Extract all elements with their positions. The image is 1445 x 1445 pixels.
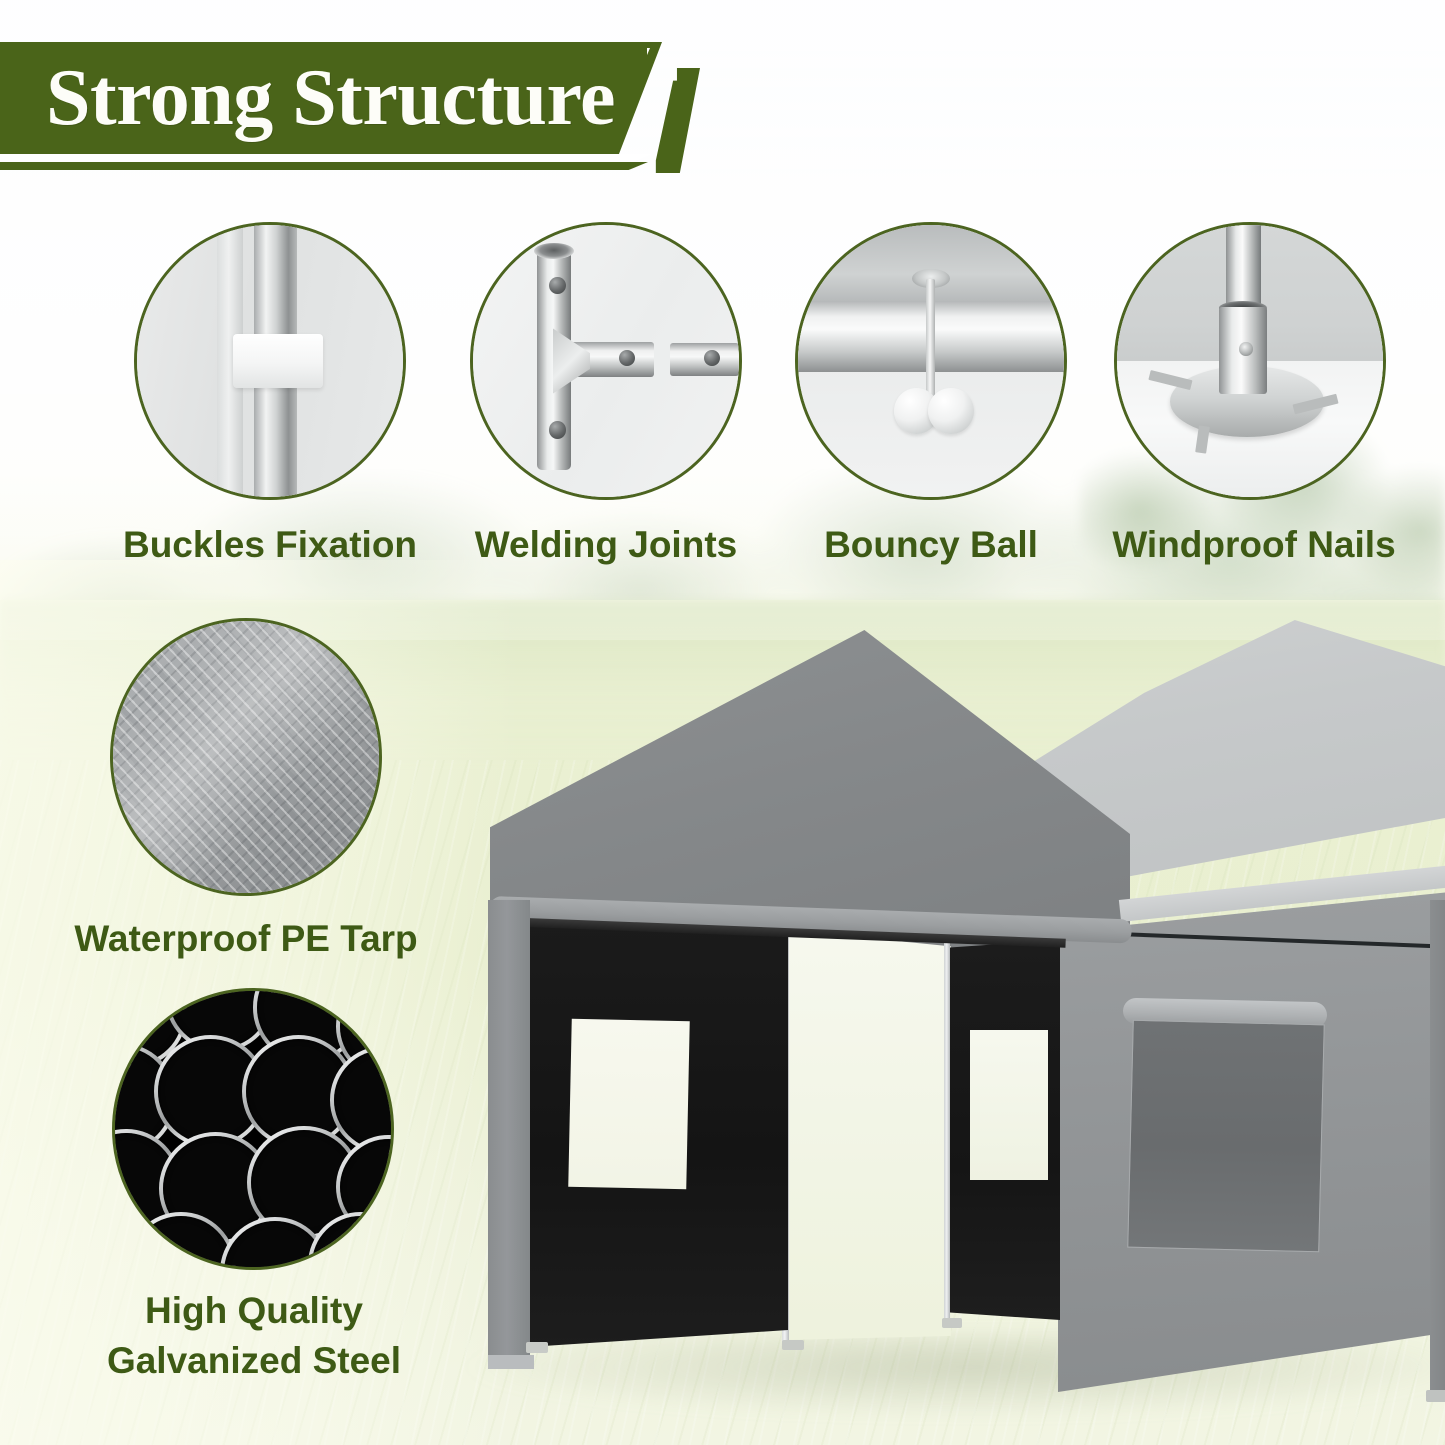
page-title: Strong Structure <box>46 56 615 140</box>
rear-corner-post <box>1430 900 1445 1400</box>
t-pipe-weld-joint-icon <box>470 222 742 500</box>
rear-panel-window <box>970 1030 1048 1180</box>
center-support-pole-right <box>944 936 950 1326</box>
front-corner-post-foot <box>488 1355 534 1369</box>
feature-label-windproof-nails: Windproof Nails <box>1074 522 1434 568</box>
feature-bouncy-ball: Bouncy Ball <box>795 222 1075 582</box>
feature-label-welding-joints: Welding Joints <box>430 522 782 568</box>
pole-base-plate-stake-icon <box>1114 222 1386 500</box>
front-panel-foot <box>526 1342 548 1353</box>
open-entry-bay <box>786 930 951 1340</box>
carport-canopy-product <box>430 600 1445 1445</box>
side-window <box>1127 1020 1325 1253</box>
label-line-2: Galvanized Steel <box>107 1340 401 1381</box>
banner-underline-accent <box>0 162 648 170</box>
feature-label-buckles-fixation: Buckles Fixation <box>94 522 446 568</box>
feature-label-high-quality-galvanized-steel: High Quality Galvanized Steel <box>54 1286 454 1386</box>
steel-tube-bundle-icon <box>112 988 394 1270</box>
center-pole-foot-right <box>942 1318 962 1328</box>
feature-high-quality-galvanized-steel: High Quality Galvanized Steel <box>112 988 422 1408</box>
front-panel-window <box>568 1019 689 1189</box>
feature-welding-joints: Welding Joints <box>470 222 750 582</box>
rear-corner-post-foot <box>1426 1390 1445 1402</box>
label-line-1: High Quality <box>145 1290 363 1331</box>
feature-label-waterproof-pe-tarp: Waterproof PE Tarp <box>65 916 427 962</box>
woven-pe-tarp-texture-icon <box>110 618 382 896</box>
feature-waterproof-pe-tarp: Waterproof PE Tarp <box>110 618 410 998</box>
feature-label-bouncy-ball: Bouncy Ball <box>765 522 1097 568</box>
pole-buckle-clip-icon <box>134 222 406 500</box>
center-pole-foot-left <box>782 1340 804 1350</box>
header-banner: Strong Structure <box>0 42 700 162</box>
front-corner-post <box>488 900 530 1360</box>
pipe-bouncy-ball-icon <box>795 222 1067 500</box>
banner-slash-accent-icon <box>652 68 700 173</box>
feature-windproof-nails: Windproof Nails <box>1114 222 1394 582</box>
feature-buckles-fixation: Buckles Fixation <box>134 222 414 582</box>
